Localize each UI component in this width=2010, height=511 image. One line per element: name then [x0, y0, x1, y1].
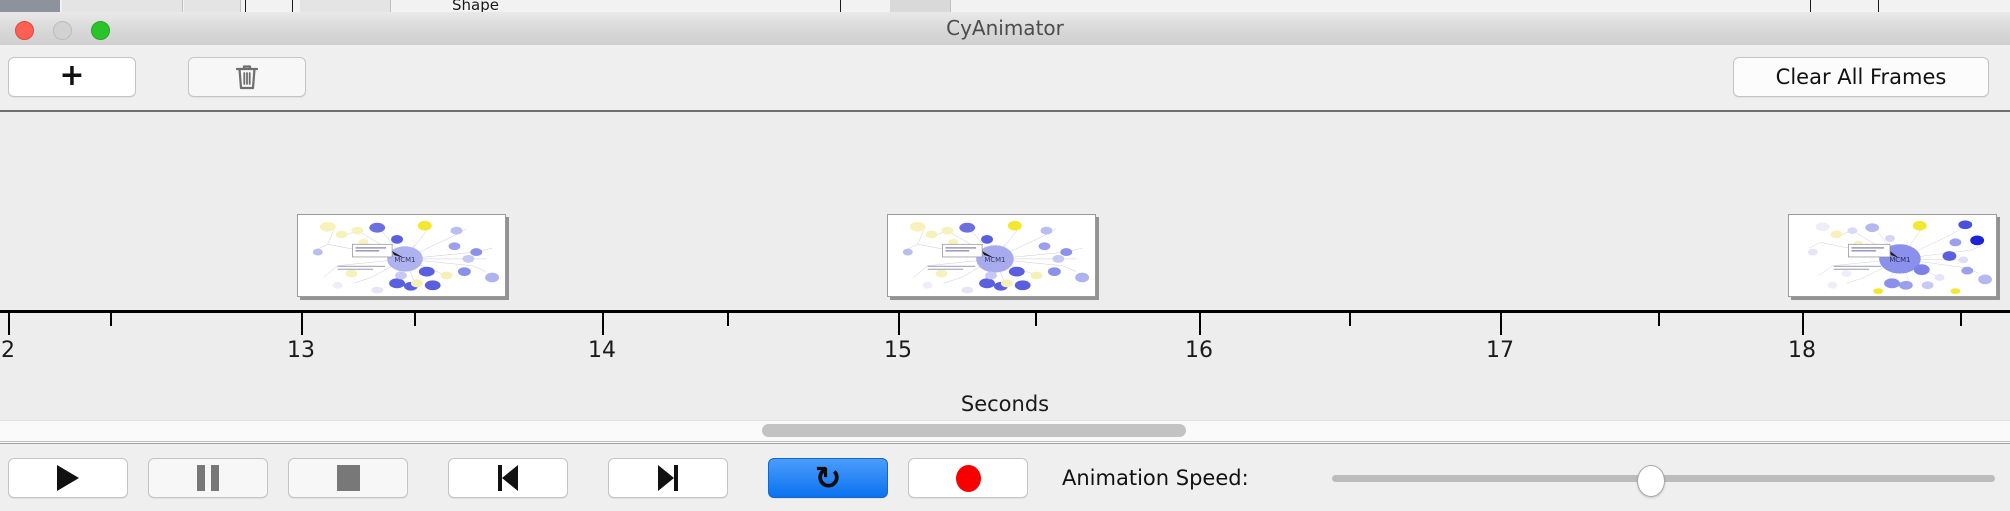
axis-label: 18 — [1788, 338, 1816, 363]
animation-speed-slider-thumb[interactable] — [1637, 465, 1665, 497]
svg-text:MCM1: MCM1 — [394, 256, 415, 264]
clear-all-frames-button[interactable]: Clear All Frames — [1733, 57, 1989, 97]
axis-tick-minor — [1960, 313, 1962, 326]
background-window-chip — [890, 0, 951, 12]
add-frame-button[interactable]: + — [8, 57, 136, 97]
network-thumbnail: MCM1 — [298, 215, 505, 296]
timeline-scrollbar-thumb[interactable] — [762, 424, 1186, 437]
timeline-frame[interactable]: MCM1 — [887, 214, 1096, 297]
axis-label: 17 — [1486, 338, 1514, 363]
title-bar: CyAnimator — [0, 12, 2010, 46]
timeline-frame[interactable]: MCM1 — [297, 214, 506, 297]
background-window-chip — [184, 0, 241, 12]
playback-control-bar: ↻ Animation Speed: — [0, 443, 2010, 511]
loop-icon: ↻ — [815, 463, 842, 493]
background-window-tick — [1878, 0, 1879, 12]
pause-icon — [197, 465, 219, 491]
stop-icon — [337, 465, 360, 491]
network-thumbnail: MCM1 — [1789, 215, 1996, 296]
axis-tick-minor — [1658, 313, 1660, 326]
animation-speed-slider[interactable] — [1332, 458, 1995, 498]
background-window-tick — [1810, 0, 1811, 12]
clear-all-frames-label: Clear All Frames — [1776, 65, 1947, 89]
timeline-frame[interactable]: MCM1 — [1788, 214, 1997, 297]
axis-tick-minor — [727, 313, 729, 326]
axis-label: 2 — [1, 338, 15, 363]
play-icon — [57, 465, 79, 491]
timeline-panel[interactable]: MCM1 — [0, 112, 2010, 420]
background-window-chip — [62, 0, 183, 12]
axis-tick-major — [8, 313, 10, 335]
axis-tick-major — [1199, 313, 1201, 335]
skip-to-end-icon — [658, 465, 678, 491]
background-window-chip — [300, 0, 391, 12]
axis-tick-minor — [414, 313, 416, 326]
animation-speed-label: Animation Speed: — [1062, 458, 1249, 498]
record-icon — [956, 465, 981, 492]
axis-tick-major — [602, 313, 604, 335]
play-button[interactable] — [8, 458, 128, 498]
background-window-tick — [245, 0, 246, 12]
skip-to-start-icon — [498, 465, 518, 491]
axis-tick-major — [898, 313, 900, 335]
axis-tick-minor — [1349, 313, 1351, 326]
last-frame-button[interactable] — [608, 458, 728, 498]
axis-tick-major — [1500, 313, 1502, 335]
axis-label: 14 — [588, 338, 616, 363]
background-window-tick — [292, 0, 293, 12]
delete-frame-button[interactable] — [188, 57, 306, 97]
svg-text:MCM1: MCM1 — [1889, 256, 1910, 264]
cyanimator-window: Shape CyAnimator + Clear All Frames — [0, 0, 2010, 510]
axis-label: 15 — [884, 338, 912, 363]
svg-text:MCM1: MCM1 — [984, 256, 1005, 264]
window-title: CyAnimator — [0, 12, 2010, 45]
axis-label: 13 — [287, 338, 315, 363]
stop-button[interactable] — [288, 458, 408, 498]
trash-icon — [235, 63, 259, 91]
background-window-dark-chip — [0, 0, 60, 12]
axis-tick-major — [1802, 313, 1804, 335]
record-button[interactable] — [908, 458, 1028, 498]
axis-title: Seconds — [0, 392, 2010, 416]
axis-label: 16 — [1185, 338, 1213, 363]
axis-tick-minor — [1035, 313, 1037, 326]
axis-tick-minor — [110, 313, 112, 326]
toolbar: + Clear All Frames — [0, 45, 2010, 112]
background-window-tick — [840, 0, 841, 12]
first-frame-button[interactable] — [448, 458, 568, 498]
network-thumbnail: MCM1 — [888, 215, 1095, 296]
pause-button[interactable] — [148, 458, 268, 498]
loop-button[interactable]: ↻ — [768, 458, 888, 498]
axis-tick-major — [301, 313, 303, 335]
